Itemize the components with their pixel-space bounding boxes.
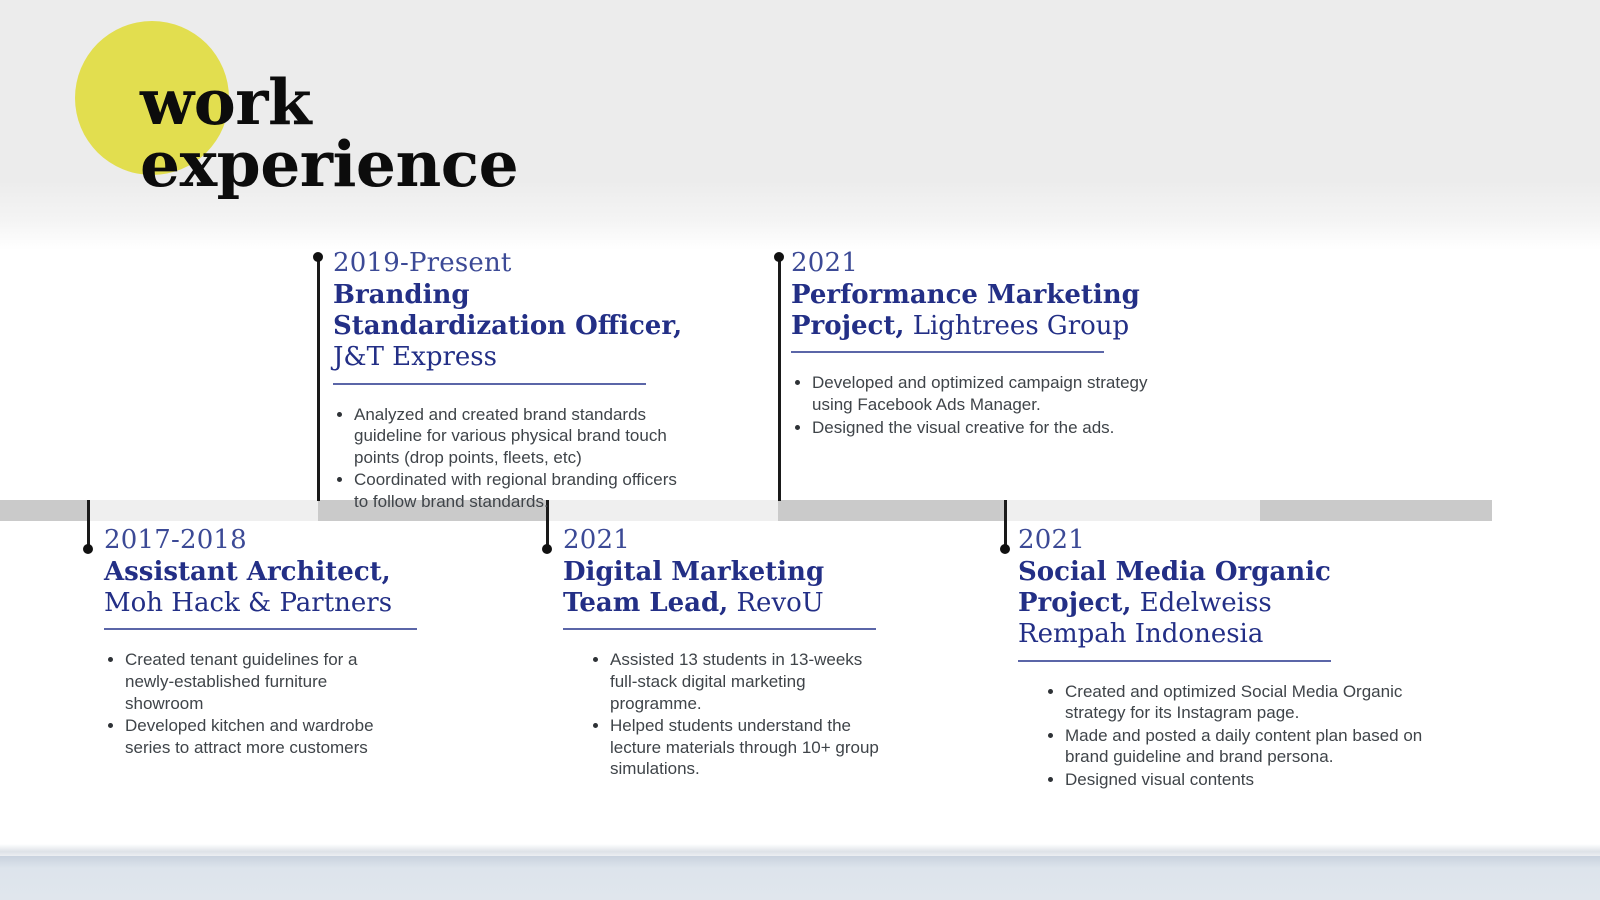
entry-bullet-list: Analyzed and created brand standards gui… bbox=[333, 404, 685, 513]
entry-underline bbox=[1018, 660, 1331, 662]
center-divider-band bbox=[0, 500, 1600, 521]
entry-role: Assistant Architect, Moh Hack & Partners bbox=[104, 557, 434, 619]
timeline-dot-branding bbox=[313, 252, 323, 262]
band-segment-4 bbox=[778, 500, 1005, 521]
band-segment-6 bbox=[1260, 500, 1492, 521]
experience-entry-digital-marketing-team-lead: 2021 Digital Marketing Team Lead, RevoU … bbox=[563, 526, 883, 781]
timeline-line-branding bbox=[317, 258, 320, 501]
page-title: work experience bbox=[140, 72, 518, 195]
timeline-line-performance bbox=[778, 258, 781, 501]
timeline-line-architect bbox=[87, 500, 90, 549]
entry-underline bbox=[563, 628, 876, 630]
experience-entry-branding-standardization-officer: 2019-Present Branding Standardization Of… bbox=[333, 249, 683, 514]
list-item: Designed the visual creative for the ads… bbox=[791, 417, 1151, 439]
slide-canvas: work experience 2019-Present Branding St… bbox=[0, 0, 1600, 856]
entry-underline bbox=[791, 351, 1104, 353]
entry-role: Digital Marketing Team Lead, RevoU bbox=[563, 557, 883, 619]
entry-organization: Lightrees Group bbox=[904, 311, 1129, 341]
entry-bullet-list: Assisted 13 students in 13-weeks full-st… bbox=[589, 649, 889, 779]
slide-bottom-shadow bbox=[0, 844, 1600, 856]
band-segment-1 bbox=[88, 500, 318, 521]
experience-entry-assistant-architect: 2017-2018 Assistant Architect, Moh Hack … bbox=[104, 526, 434, 759]
entry-underline bbox=[333, 383, 646, 385]
entry-year: 2021 bbox=[791, 249, 1151, 278]
entry-year: 2021 bbox=[563, 526, 883, 555]
entry-organization: RevoU bbox=[728, 588, 823, 618]
list-item: Assisted 13 students in 13-weeks full-st… bbox=[589, 649, 889, 714]
list-item: Developed and optimized campaign strateg… bbox=[791, 372, 1151, 415]
entry-year: 2017-2018 bbox=[104, 526, 434, 555]
entry-role-title: Branding Standardization Officer, bbox=[333, 280, 682, 341]
timeline-dot-revou bbox=[542, 544, 552, 554]
entry-bullet-list: Created tenant guidelines for a newly-es… bbox=[104, 649, 404, 758]
timeline-dot-edelweiss bbox=[1000, 544, 1010, 554]
timeline-dot-architect bbox=[83, 544, 93, 554]
band-segment-0 bbox=[0, 500, 88, 521]
entry-role: Performance Marketing Project, Lightrees… bbox=[791, 280, 1151, 342]
list-item: Analyzed and created brand standards gui… bbox=[333, 404, 685, 469]
entry-role-title: Assistant Architect, bbox=[104, 557, 391, 587]
entry-year: 2019-Present bbox=[333, 249, 683, 278]
list-item: Created and optimized Social Media Organ… bbox=[1044, 681, 1456, 724]
entry-bullet-list: Developed and optimized campaign strateg… bbox=[791, 372, 1151, 438]
list-item: Created tenant guidelines for a newly-es… bbox=[104, 649, 404, 714]
entry-organization: J&T Express bbox=[333, 342, 497, 372]
entry-organization: Moh Hack & Partners bbox=[104, 588, 392, 618]
list-item: Made and posted a daily content plan bas… bbox=[1044, 725, 1456, 768]
timeline-dot-performance bbox=[774, 252, 784, 262]
list-item: Helped students understand the lecture m… bbox=[589, 715, 889, 780]
list-item: Coordinated with regional branding offic… bbox=[333, 469, 685, 512]
entry-role: Social Media Organic Project, Edelweiss … bbox=[1018, 557, 1348, 651]
entry-underline bbox=[104, 628, 417, 630]
experience-entry-performance-marketing-project: 2021 Performance Marketing Project, Ligh… bbox=[791, 249, 1151, 439]
entry-role: Branding Standardization Officer, J&T Ex… bbox=[333, 280, 683, 374]
list-item: Developed kitchen and wardrobe series to… bbox=[104, 715, 404, 758]
experience-entry-social-media-organic-project: 2021 Social Media Organic Project, Edelw… bbox=[1018, 526, 1348, 792]
list-item: Designed visual contents bbox=[1044, 769, 1456, 791]
timeline-line-edelweiss bbox=[1004, 500, 1007, 549]
entry-year: 2021 bbox=[1018, 526, 1348, 555]
band-segment-5 bbox=[1005, 500, 1260, 521]
entry-bullet-list: Created and optimized Social Media Organ… bbox=[1044, 681, 1456, 791]
page-background-below-slide bbox=[0, 856, 1600, 900]
